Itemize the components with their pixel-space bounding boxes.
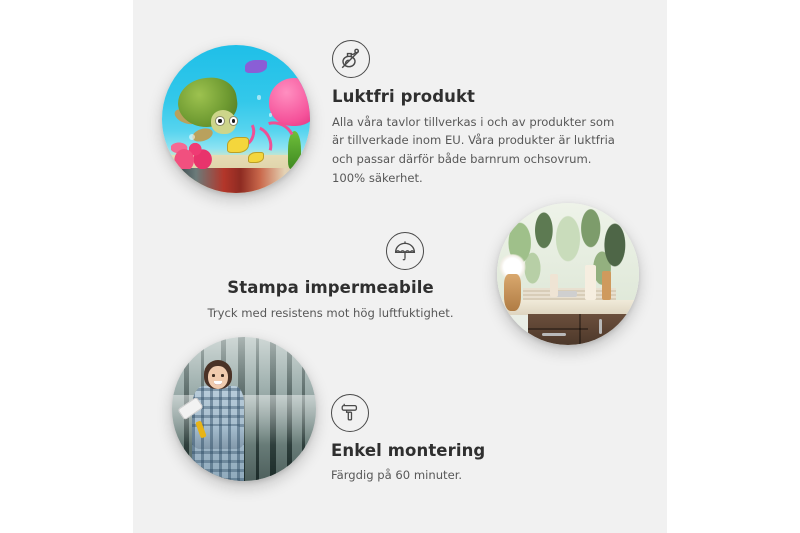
promo-infographic: Luktfri produkt Alla våra tavlor tillver…	[0, 0, 800, 533]
underwater-scene-circle	[162, 45, 310, 193]
paint-roller-icon	[331, 394, 369, 432]
person-face	[208, 366, 228, 389]
feature-body: Färgdig på 60 minuter.	[331, 466, 591, 485]
feature-body: Alla våra tavlor tillverkas i och av pro…	[332, 113, 620, 188]
feature-enkel-montering: Enkel montering Färgdig på 60 minuter.	[331, 394, 591, 484]
feature-title: Enkel montering	[331, 441, 591, 462]
feature-body: Tryck med resistens mot hög luftfuktighe…	[198, 304, 463, 323]
feature-stampa-impermeabile: Stampa impermeabile Tryck med resistens …	[198, 232, 463, 322]
octopus-icon	[269, 78, 310, 127]
feature-luktfri-produkt: Luktfri produkt Alla våra tavlor tillver…	[332, 40, 632, 188]
bubble	[269, 113, 273, 117]
person-eye	[221, 374, 224, 376]
bathroom-vanity-circle	[497, 203, 639, 345]
person-smile	[214, 381, 221, 385]
turtle-eye	[229, 116, 239, 126]
no-fragrance-icon	[332, 40, 370, 78]
cabinet-seam	[528, 328, 588, 330]
bubble	[257, 95, 261, 99]
seabed-strip	[171, 168, 310, 193]
octopus-eye	[307, 93, 310, 98]
feature-title: Stampa impermeabile	[198, 278, 463, 299]
drawer-handle	[542, 333, 566, 336]
towel-roll	[585, 265, 596, 299]
feature-title: Luktfri produkt	[332, 87, 632, 108]
forest-artwork	[172, 337, 316, 481]
forest-mural-circle	[172, 337, 316, 481]
vase	[504, 274, 521, 311]
door-handle	[599, 319, 602, 333]
purple-fish-icon	[245, 60, 267, 73]
vanity-cabinet	[528, 314, 639, 345]
turtle-eye	[215, 116, 225, 126]
bubble	[189, 134, 195, 140]
soap-bottle	[550, 274, 559, 297]
bathroom-artwork	[497, 203, 639, 345]
umbrella-icon	[386, 232, 424, 270]
decor-bottle	[602, 271, 611, 299]
underwater-artwork	[162, 45, 310, 193]
